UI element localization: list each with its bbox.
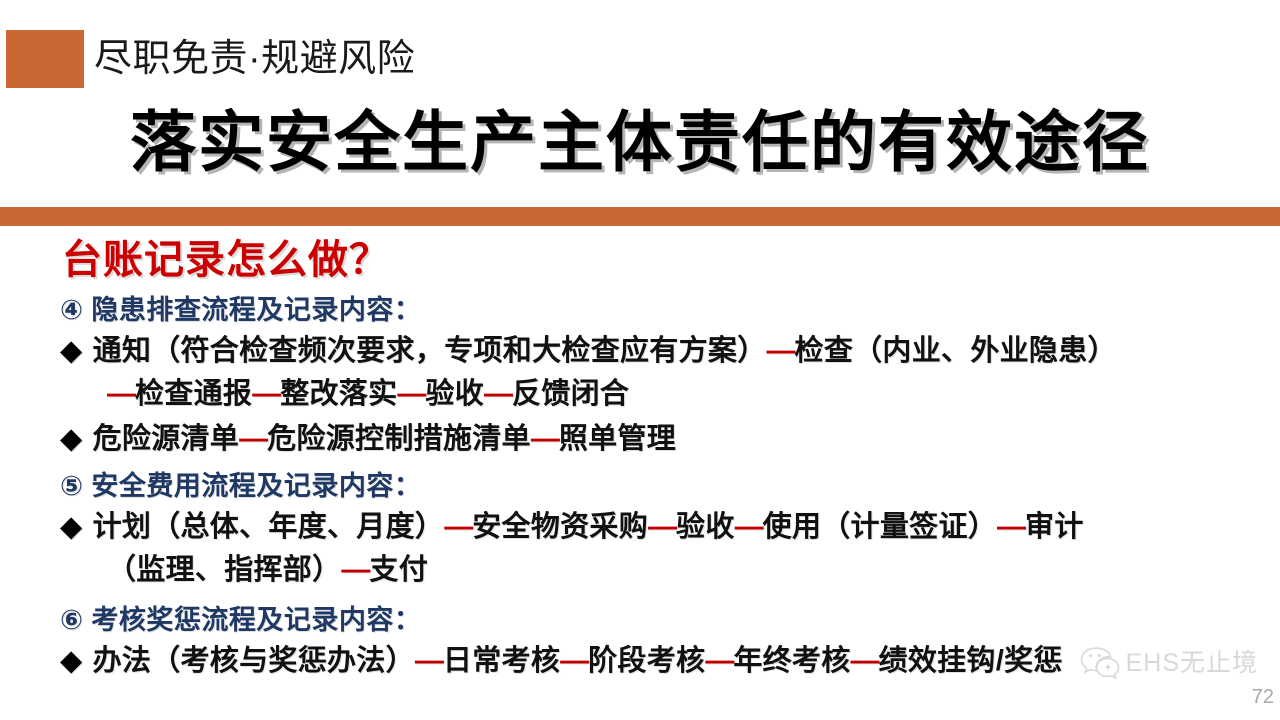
bullet-text: 通知（符合检查频次要求，专项和大检查应有方案） [93, 335, 767, 367]
bullet-text: 日常考核 [443, 645, 560, 677]
kicker-text: 尽职免责·规避风险 [94, 32, 415, 86]
bullet-text: 绩效挂钩/奖惩 [879, 645, 1063, 677]
bullet-text: 照单管理 [559, 423, 676, 455]
flow-dash: — [767, 335, 795, 367]
bullet-text: 危险源控制措施清单 [267, 423, 531, 455]
bullet-item: ◆通知（符合检查频次要求，专项和大检查应有方案）—检查（内业、外业隐患） —检查… [60, 330, 1260, 416]
flow-dash: — [735, 511, 763, 543]
bullet-line-continued: —检查通报—整改落实—验收—反馈闭合 [60, 373, 1260, 416]
flow-dash: — [239, 423, 267, 455]
bullet-text: 阶段考核 [588, 645, 705, 677]
flow-dash: — [531, 423, 559, 455]
page-title: 落实安全生产主体责任的有效途径 [0, 100, 1280, 186]
flow-dash: — [444, 511, 472, 543]
bullet-text: 反馈闭合 [512, 378, 629, 410]
bullet-text: 支付 [369, 554, 428, 586]
bullet-text: 检查（内业、外业隐患） [795, 335, 1117, 367]
bullet-text: 危险源清单 [93, 423, 240, 455]
bullet-text: 年终考核 [733, 645, 850, 677]
diamond-bullet-icon: ◆ [60, 335, 83, 367]
accent-divider-bar [0, 207, 1280, 226]
diamond-bullet-icon: ◆ [60, 645, 83, 677]
bullet-line: ◆计划（总体、年度、月度）—安全物资采购—验收—使用（计量签证）—审计 [60, 506, 1260, 549]
slide-canvas: 尽职免责·规避风险 落实安全生产主体责任的有效途径 台账记录怎么做？ ④ 隐患排… [0, 0, 1280, 720]
numbered-heading-6: ⑥ 考核奖惩流程及记录内容： [60, 600, 1260, 640]
bullet-item: ◆危险源清单—危险源控制措施清单—照单管理 [60, 418, 1260, 461]
section-heading: 台账记录怎么做？ [62, 234, 390, 286]
bullet-text: 办法（考核与奖惩办法） [93, 645, 415, 677]
bullet-text: 使用（计量签证） [763, 511, 997, 543]
slide-header: 尽职免责·规避风险 落实安全生产主体责任的有效途径 [0, 0, 1280, 207]
flow-dash: — [341, 554, 369, 586]
flow-dash: — [415, 645, 443, 677]
slide-body: 台账记录怎么做？ ④ 隐患排查流程及记录内容： ◆通知（符合检查频次要求，专项和… [0, 226, 1280, 720]
diamond-bullet-icon: ◆ [60, 423, 83, 455]
flow-dash: — [252, 378, 280, 410]
flow-dash: — [107, 378, 135, 410]
numbered-heading-5: ⑤ 安全费用流程及记录内容： [60, 466, 1260, 506]
flow-dash: — [851, 645, 879, 677]
flow-dash: — [397, 378, 425, 410]
bullet-text: 安全物资采购 [472, 511, 648, 543]
bullet-line: ◆通知（符合检查频次要求，专项和大检查应有方案）—检查（内业、外业隐患） [60, 330, 1260, 373]
flow-dash: — [484, 378, 512, 410]
page-number: 72 [1252, 686, 1274, 708]
bullet-text: 计划（总体、年度、月度） [93, 511, 445, 543]
bullet-text: 验收 [425, 378, 484, 410]
diamond-bullet-icon: ◆ [60, 511, 83, 543]
bullet-item: ◆计划（总体、年度、月度）—安全物资采购—验收—使用（计量签证）—审计 （监理、… [60, 506, 1260, 592]
bullet-line-continued: （监理、指挥部）—支付 [60, 549, 1260, 592]
bullet-text: （监理、指挥部） [107, 554, 341, 586]
bullet-text: 验收 [676, 511, 735, 543]
bullet-text: 整改落实 [280, 378, 397, 410]
flow-dash: — [997, 511, 1025, 543]
accent-square-decoration [6, 30, 84, 88]
flow-dash: — [560, 645, 588, 677]
bullet-item: ◆办法（考核与奖惩办法）—日常考核—阶段考核—年终考核—绩效挂钩/奖惩 [60, 640, 1260, 683]
flow-dash: — [648, 511, 676, 543]
flow-dash: — [705, 645, 733, 677]
numbered-heading-4: ④ 隐患排查流程及记录内容： [60, 290, 1260, 330]
bullet-text: 审计 [1025, 511, 1084, 543]
bullet-text: 检查通报 [135, 378, 252, 410]
